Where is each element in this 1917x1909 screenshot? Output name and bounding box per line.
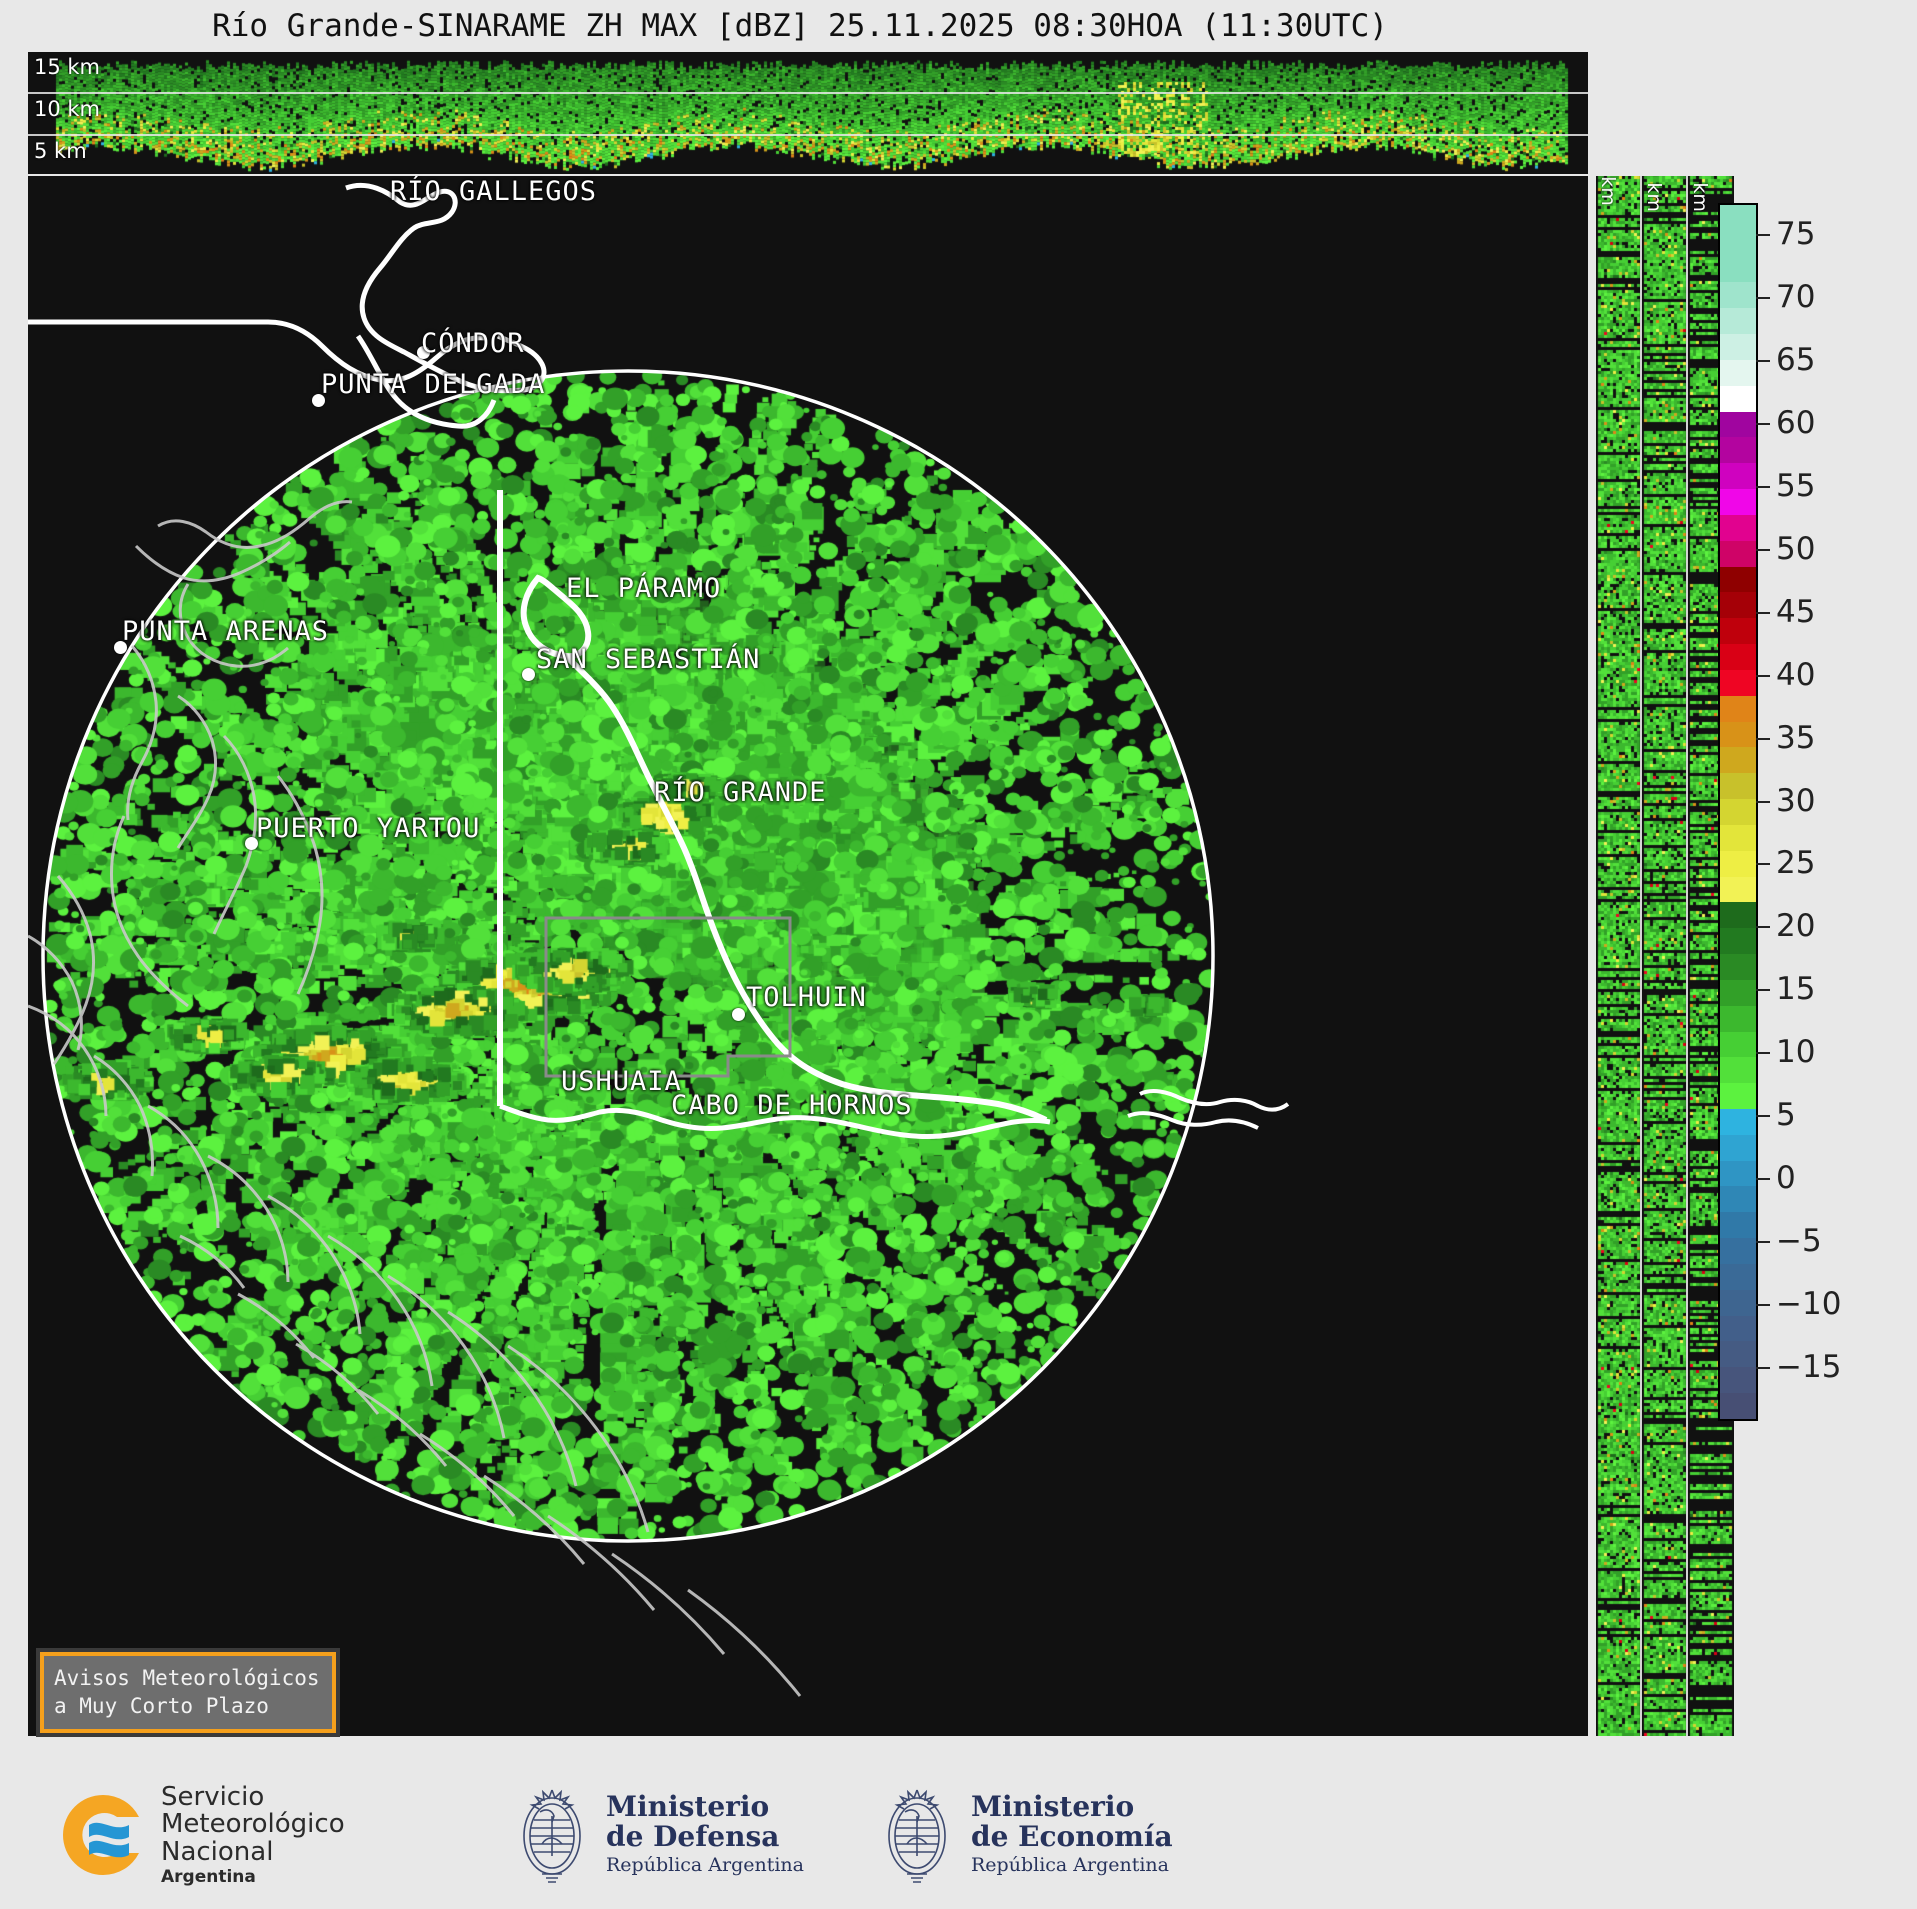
colorbar-band-19 <box>1720 696 1756 722</box>
logo-ministerio-economia[interactable]: Ministerio de Economía República Argenti… <box>875 1782 1173 1886</box>
colorbar-band-12 <box>1720 515 1756 541</box>
colorbar-tick <box>1756 926 1770 928</box>
city-marker-dot <box>732 1008 745 1021</box>
colorbar-band-28 <box>1720 928 1756 954</box>
colorbar-tick <box>1756 549 1770 551</box>
colorbar-tick <box>1756 1241 1770 1243</box>
height-label-vert-15km: 15 km <box>1689 176 1711 212</box>
smn-line2: Meteorológico <box>161 1811 345 1838</box>
smn-line3: Nacional <box>161 1839 345 1866</box>
height-label-10km: 10 km <box>34 97 100 121</box>
colorbar-band-26 <box>1720 877 1756 903</box>
colorbar-tick-label: 25 <box>1776 845 1815 881</box>
colorbar-band-2 <box>1720 257 1756 283</box>
colorbar-band-37 <box>1720 1161 1756 1187</box>
city-label-r-o-grande: RÍO GRANDE <box>654 777 827 808</box>
height-label-5km: 5 km <box>34 139 87 163</box>
colorbar-tick <box>1756 1367 1770 1369</box>
colorbar-tick <box>1756 1178 1770 1180</box>
logo-ministerio-defensa[interactable]: Ministerio de Defensa República Argentin… <box>510 1782 804 1886</box>
colorbar-band-21 <box>1720 747 1756 773</box>
colorbar-band-14 <box>1720 567 1756 593</box>
colorbar-band-46 <box>1720 1393 1756 1419</box>
height-label-vert-5km: 5 km <box>1597 176 1619 206</box>
colorbar-band-40 <box>1720 1238 1756 1264</box>
strip-divider-1 <box>1640 176 1642 1736</box>
colorbar-tick <box>1756 423 1770 425</box>
colorbar-tick-label: 35 <box>1776 720 1815 756</box>
city-label-el-p-ramo: EL PÁRAMO <box>566 573 721 604</box>
height-line-10km <box>28 92 1588 94</box>
warning-box[interactable]: Avisos Meteorológicos a Muy Corto Plazo <box>40 1652 336 1733</box>
colorbar-tick-label: 65 <box>1776 342 1815 378</box>
colorbar-band-7 <box>1720 386 1756 412</box>
height-line-5km <box>28 134 1588 136</box>
colorbar-band-42 <box>1720 1290 1756 1316</box>
argentina-shield-icon <box>510 1782 594 1886</box>
page-title: Río Grande-SINARAME ZH MAX [dBZ] 25.11.2… <box>0 8 1600 44</box>
colorbar-band-10 <box>1720 463 1756 489</box>
height-label-15km: 15 km <box>34 55 100 79</box>
colorbar-band-3 <box>1720 282 1756 308</box>
colorbar-band-11 <box>1720 489 1756 515</box>
colorbar-tick-label: −15 <box>1776 1349 1841 1385</box>
top-cross-section-panel: 15 km 10 km 5 km <box>28 52 1588 174</box>
colorbar-tick-label: 70 <box>1776 279 1815 315</box>
defensa-line1: Ministerio <box>606 1792 804 1822</box>
city-label-r-o-gallegos: RÍO GALLEGOS <box>390 176 597 207</box>
colorbar-band-18 <box>1720 670 1756 696</box>
colorbar-tick <box>1756 1052 1770 1054</box>
defensa-line3: República Argentina <box>606 1855 804 1876</box>
colorbar-tick <box>1756 989 1770 991</box>
colorbar-tick-label: 15 <box>1776 971 1815 1007</box>
colorbar-band-38 <box>1720 1186 1756 1212</box>
colorbar-band-44 <box>1720 1341 1756 1367</box>
warning-line-1: Avisos Meteorológicos <box>54 1664 322 1692</box>
colorbar-tick-label: 55 <box>1776 468 1815 504</box>
colorbar-band-39 <box>1720 1212 1756 1238</box>
colorbar-band-34 <box>1720 1083 1756 1109</box>
colorbar <box>1718 203 1758 1421</box>
city-label-tolhuin: TOLHUIN <box>746 982 867 1013</box>
colorbar-band-6 <box>1720 360 1756 386</box>
colorbar-tick-label: 75 <box>1776 216 1815 252</box>
city-label-punta-arenas: PUNTA ARENAS <box>122 616 329 647</box>
colorbar-band-1 <box>1720 231 1756 257</box>
smn-logo-icon <box>55 1787 151 1883</box>
colorbar-band-29 <box>1720 954 1756 980</box>
colorbar-tick <box>1756 486 1770 488</box>
colorbar-tick <box>1756 297 1770 299</box>
colorbar-band-13 <box>1720 541 1756 567</box>
colorbar-band-16 <box>1720 618 1756 644</box>
colorbar-band-33 <box>1720 1057 1756 1083</box>
strip-divider-2 <box>1686 176 1688 1736</box>
economia-line3: República Argentina <box>971 1855 1173 1876</box>
colorbar-band-32 <box>1720 1032 1756 1058</box>
right-cross-section-5km: 5 km <box>1596 176 1642 1736</box>
colorbar-tick <box>1756 675 1770 677</box>
city-label-c-ndor: CÓNDOR <box>421 328 525 359</box>
colorbar-tick-label: 50 <box>1776 531 1815 567</box>
city-label-ushuaia: USHUAIA <box>561 1066 682 1097</box>
colorbar-band-30 <box>1720 980 1756 1006</box>
city-label-punta-delgada: PUNTA DELGADA <box>321 369 545 400</box>
colorbar-tick-label: 60 <box>1776 405 1815 441</box>
colorbar-tick-label: 10 <box>1776 1034 1815 1070</box>
colorbar-tick-label: 0 <box>1776 1160 1796 1196</box>
colorbar-tick <box>1756 360 1770 362</box>
colorbar-band-20 <box>1720 722 1756 748</box>
colorbar-tick <box>1756 612 1770 614</box>
warning-line-2: a Muy Corto Plazo <box>54 1692 322 1720</box>
colorbar-band-0 <box>1720 205 1756 231</box>
city-label-puerto-yartou: PUERTO YARTOU <box>256 813 480 844</box>
height-label-vert-10km: 10 km <box>1643 176 1665 212</box>
colorbar-tick <box>1756 863 1770 865</box>
colorbar-band-24 <box>1720 825 1756 851</box>
right-cross-section-10km: 10 km <box>1642 176 1688 1736</box>
colorbar-band-22 <box>1720 773 1756 799</box>
colorbar-band-41 <box>1720 1264 1756 1290</box>
logo-smn[interactable]: Servicio Meteorológico Nacional Argentin… <box>55 1784 345 1887</box>
colorbar-tick <box>1756 1115 1770 1117</box>
radar-ppi-panel[interactable]: RÍO GALLEGOSCÓNDORPUNTA DELGADAEL PÁRAMO… <box>28 176 1588 1736</box>
colorbar-ticks: 757065605550454035302520151050−5−10−15 <box>1756 203 1876 1417</box>
city-label-cabo-de-hornos: CABO DE HORNOS <box>671 1090 913 1121</box>
colorbar-tick <box>1756 1304 1770 1306</box>
colorbar-band-4 <box>1720 308 1756 334</box>
colorbar-tick <box>1756 738 1770 740</box>
colorbar-tick-label: −10 <box>1776 1286 1841 1322</box>
colorbar-tick <box>1756 801 1770 803</box>
economia-line2: de Economía <box>971 1822 1173 1852</box>
colorbar-tick-label: −5 <box>1776 1223 1822 1259</box>
smn-line4: Argentina <box>161 1869 345 1887</box>
colorbar-band-17 <box>1720 644 1756 670</box>
colorbar-band-25 <box>1720 851 1756 877</box>
argentina-shield-icon-2 <box>875 1782 959 1886</box>
colorbar-tick <box>1756 234 1770 236</box>
smn-line1: Servicio <box>161 1784 345 1811</box>
colorbar-band-9 <box>1720 437 1756 463</box>
colorbar-band-31 <box>1720 1006 1756 1032</box>
colorbar-band-23 <box>1720 799 1756 825</box>
colorbar-band-45 <box>1720 1367 1756 1393</box>
defensa-line2: de Defensa <box>606 1822 804 1852</box>
colorbar-tick-label: 5 <box>1776 1097 1796 1133</box>
colorbar-tick-label: 40 <box>1776 657 1815 693</box>
colorbar-band-43 <box>1720 1316 1756 1342</box>
colorbar-band-36 <box>1720 1135 1756 1161</box>
city-marker-dot <box>522 668 535 681</box>
colorbar-band-5 <box>1720 334 1756 360</box>
colorbar-band-15 <box>1720 592 1756 618</box>
footer: Servicio Meteorológico Nacional Argentin… <box>0 1760 1917 1909</box>
economia-line1: Ministerio <box>971 1792 1173 1822</box>
colorbar-tick-label: 20 <box>1776 908 1815 944</box>
city-label-san-sebasti-n: SAN SEBASTIÁN <box>536 644 760 675</box>
colorbar-band-35 <box>1720 1109 1756 1135</box>
colorbar-tick-label: 45 <box>1776 594 1815 630</box>
colorbar-band-27 <box>1720 902 1756 928</box>
colorbar-tick-label: 30 <box>1776 783 1815 819</box>
colorbar-band-8 <box>1720 412 1756 438</box>
